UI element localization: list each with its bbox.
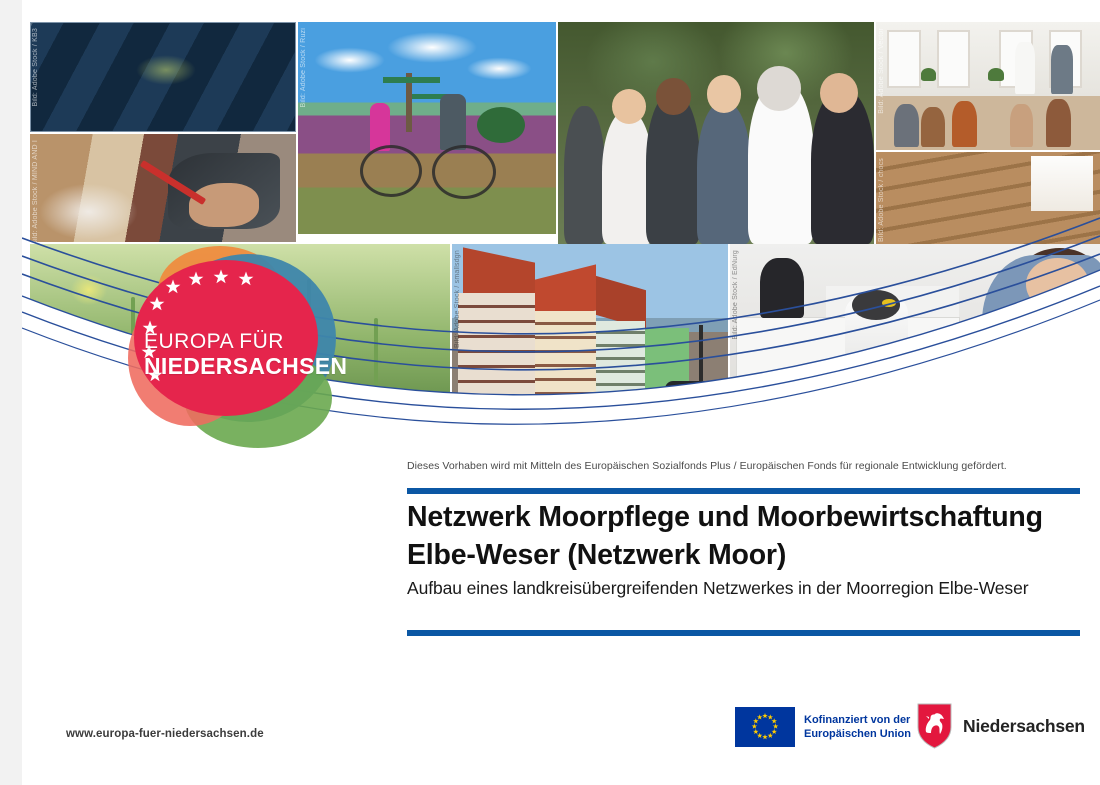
seated-person — [1046, 99, 1071, 148]
seated-person — [921, 107, 946, 148]
divider-top — [407, 488, 1080, 494]
plant-shape — [988, 68, 1004, 81]
timbered-town-photo: Bild: Adobe Stock / smallsdgn — [452, 244, 728, 420]
robotics-lab-photo: Bild: Adobe Stock / EdNurg — [730, 244, 1100, 420]
diverse-group-photo — [558, 22, 874, 244]
cyclist-figure — [370, 103, 390, 151]
seated-person — [1010, 104, 1032, 148]
photo-credit: Bild: Adobe Stock / EdNurg — [732, 250, 739, 340]
timbered-house — [458, 293, 535, 406]
carpenter-hand — [189, 183, 259, 227]
bicycle-wheel — [432, 145, 496, 199]
grass-blade — [80, 325, 84, 420]
heath-cyclists-photo: Bild: Adobe Stock / Ruzi — [298, 22, 556, 234]
page-subtitle: Aufbau eines landkreisübergreifenden Net… — [407, 578, 1100, 599]
window-shape — [889, 32, 918, 86]
europa-fuer-niedersachsen-logo: EUROPA FÜR NIEDERSACHSEN — [108, 238, 358, 448]
person-face — [820, 73, 858, 113]
funding-note: Dieses Vorhaben wird mit Mitteln des Eur… — [407, 460, 1097, 472]
person-face — [757, 66, 801, 110]
seminar-room-photo: Bild: Adobe Stock / Vector — [876, 22, 1100, 150]
logo-line-1: EUROPA FÜR — [144, 330, 347, 354]
document-page: Bild: Adobe Stock / KB3 Bild: Adobe Stoc… — [22, 0, 1100, 785]
glass-facade-photo: Bild: Adobe Stock / KB3 — [30, 22, 296, 132]
hall-window — [1031, 156, 1094, 211]
window-shape — [939, 32, 968, 86]
presenter-figure — [1015, 42, 1035, 93]
facade-glint — [136, 55, 196, 85]
tree-shape — [477, 107, 525, 143]
person-figure — [602, 111, 653, 244]
bicycle-wheel — [360, 145, 422, 197]
page-title: Netzwerk Moorpflege und Moorbewirtschaft… — [407, 498, 1097, 574]
niedersachsen-coat-of-arms-icon — [917, 703, 952, 749]
eu-flag-icon — [735, 707, 795, 747]
seated-person — [952, 101, 977, 147]
divider-bottom — [407, 630, 1080, 636]
eu-label-line-2: Europäischen Union — [804, 727, 911, 741]
photo-credit: Bild: Adobe Stock / KB3 — [32, 28, 39, 107]
parked-car — [665, 381, 720, 409]
eu-label-line-1: Kofinanziert von der — [804, 713, 911, 727]
carpenter-photo: Bild: Adobe Stock / MIND AND I — [30, 134, 296, 242]
photo-credit: Bild: Adobe Stock / chocs — [878, 158, 885, 242]
photo-credit: Bild: Adobe Stock / Ruzi — [300, 28, 307, 108]
signpost-arm — [383, 77, 440, 83]
cyclist-figure — [440, 94, 466, 150]
logo-line-2: NIEDERSACHSEN — [144, 354, 347, 380]
person-face — [707, 75, 742, 113]
eu-cofunding-logo: Kofinanziert von der Europäischen Union — [735, 707, 911, 747]
page-title-line-2: Elbe-Weser (Netzwerk Moor) — [407, 536, 1097, 574]
woman-face — [1026, 258, 1089, 311]
photo-credit: Bild: Adobe Stock / Vector — [878, 28, 885, 114]
logo-wordmark: EUROPA FÜR NIEDERSACHSEN — [144, 330, 347, 379]
photo-credit: Bild: Adobe Stock / MIND AND I — [32, 140, 39, 242]
plant-shape — [921, 68, 937, 81]
person-figure — [564, 106, 605, 244]
person-figure — [646, 93, 700, 244]
timbered-house — [535, 311, 596, 406]
niedersachsen-logo: Niedersachsen — [917, 703, 1085, 749]
person-face — [656, 78, 691, 116]
seated-visitor — [760, 258, 804, 318]
page-title-line-1: Netzwerk Moorpflege und Moorbewirtschaft… — [407, 498, 1097, 536]
grass-blade — [374, 318, 378, 420]
niedersachsen-label: Niedersachsen — [963, 716, 1085, 737]
lecture-hall-photo: Bild: Adobe Stock / chocs — [876, 152, 1100, 250]
person-figure — [697, 102, 751, 244]
photo-credit: Bild: Adobe Stock / smallsdgn — [454, 250, 461, 348]
presenter-figure — [1051, 45, 1073, 94]
timbered-house — [596, 321, 646, 405]
eu-cofunding-label: Kofinanziert von der Europäischen Union — [804, 713, 911, 741]
seated-person — [894, 104, 919, 148]
website-url[interactable]: www.europa-fuer-niedersachsen.de — [66, 728, 264, 740]
